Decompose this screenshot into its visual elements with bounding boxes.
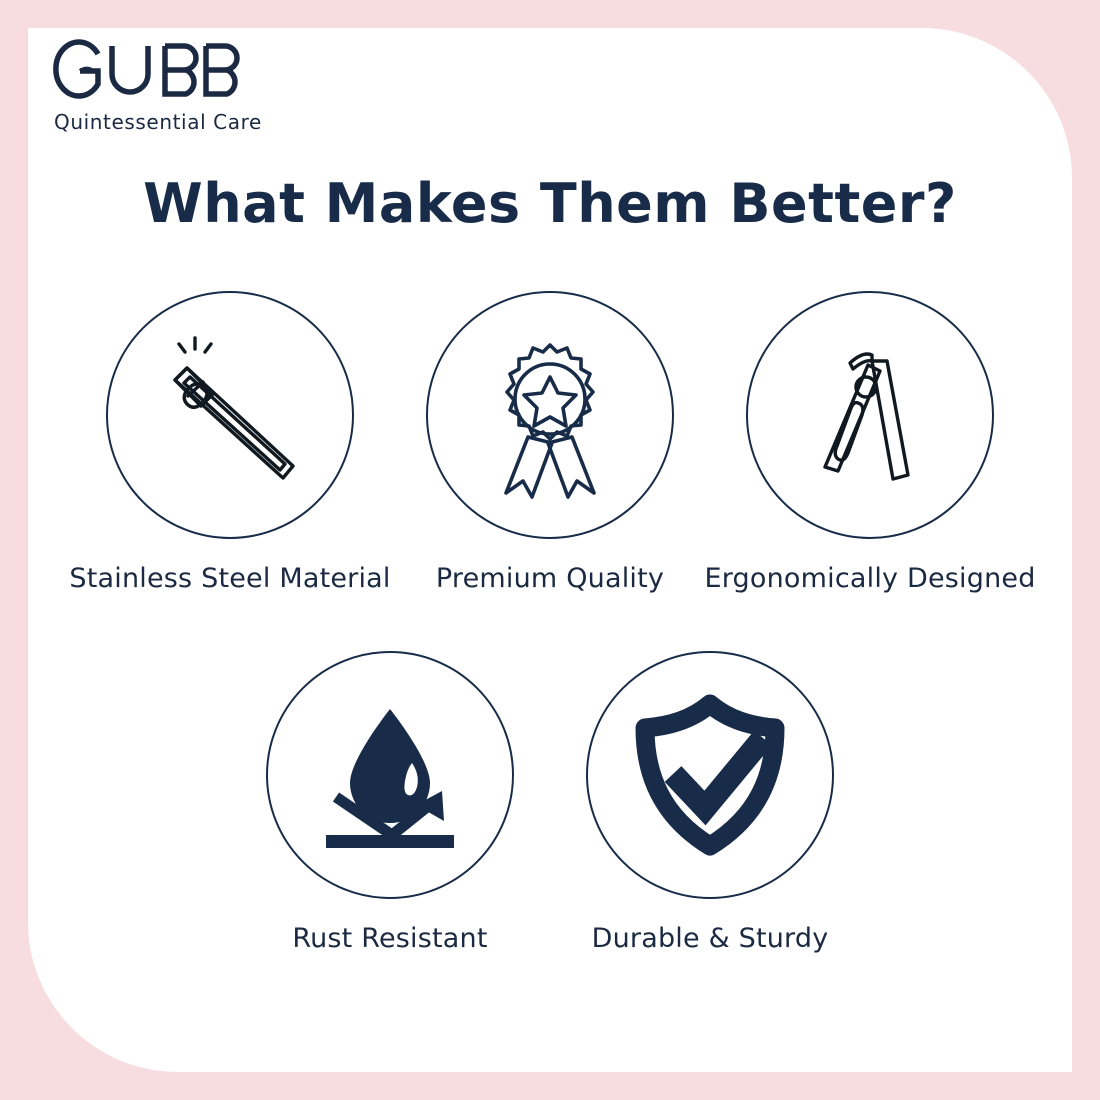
feature-icon-circle: [426, 291, 674, 539]
promo-graphic: Quintessential Care What Makes Them Bett…: [0, 0, 1100, 1100]
feature-icon-circle: [266, 651, 514, 899]
feature-label: Rust Resistant: [292, 923, 487, 954]
feature-item-ergonomic-design: Ergonomically Designed: [746, 291, 994, 594]
feature-item-rust-resistant: Rust Resistant: [266, 651, 514, 954]
feature-icon-circle: [746, 291, 994, 539]
open-nail-clipper-icon: [780, 325, 960, 505]
feature-label: Stainless Steel Material: [69, 563, 390, 594]
feature-label: Premium Quality: [436, 563, 664, 594]
feature-row-1: Stainless Steel Material: [0, 291, 1100, 594]
shield-check-icon: [617, 682, 803, 868]
page-title: What Makes Them Better?: [0, 172, 1100, 235]
feature-label: Ergonomically Designed: [704, 563, 1035, 594]
gubb-wordmark-icon: [50, 38, 250, 100]
feature-label: Durable & Sturdy: [592, 923, 829, 954]
nail-clipper-shine-icon: [135, 320, 325, 510]
feature-icon-circle: [106, 291, 354, 539]
feature-item-premium-quality: Premium Quality: [426, 291, 674, 594]
shield-shape: [645, 704, 775, 846]
brand-logo: Quintessential Care: [50, 38, 380, 100]
feature-item-stainless-steel: Stainless Steel Material: [106, 291, 354, 594]
award-ribbon-star-icon: [460, 325, 640, 505]
brand-tagline: Quintessential Care: [54, 110, 262, 134]
feature-row-2: Rust Resistant Durable & Sturdy: [0, 651, 1100, 954]
feature-item-durable-sturdy: Durable & Sturdy: [586, 651, 834, 954]
feature-icon-circle: [586, 651, 834, 899]
water-droplet-repel-icon: [300, 685, 480, 865]
